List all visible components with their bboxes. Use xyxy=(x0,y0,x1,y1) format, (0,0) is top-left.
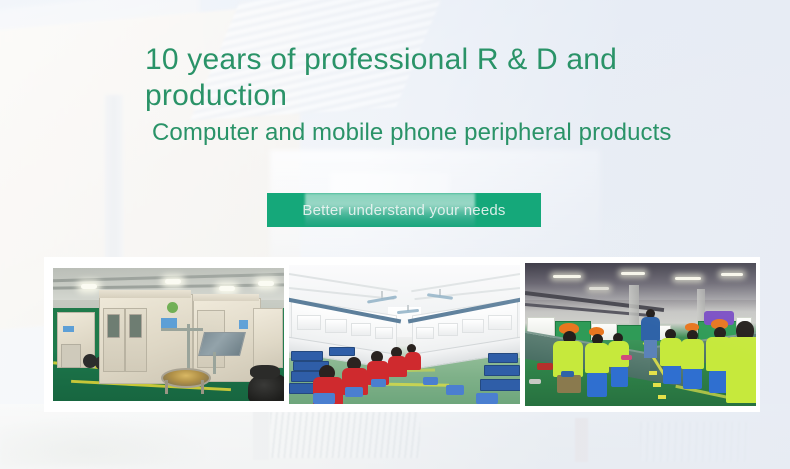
cta-button-label: Better understand your needs xyxy=(302,202,505,219)
hero-banner: 10 years of professional R & D and produ… xyxy=(0,0,790,469)
page-title: 10 years of professional R & D and produ… xyxy=(145,42,675,114)
cta-button[interactable]: Better understand your needs xyxy=(267,193,541,227)
photo-gallery-panel xyxy=(44,257,760,412)
gallery-photo-assembly-line-red[interactable] xyxy=(289,265,520,404)
page-subtitle: Computer and mobile phone peripheral pro… xyxy=(152,118,672,148)
gallery-photo-cnc-workshop[interactable] xyxy=(53,268,284,401)
gallery-photo-assembly-line-green[interactable] xyxy=(525,263,756,406)
